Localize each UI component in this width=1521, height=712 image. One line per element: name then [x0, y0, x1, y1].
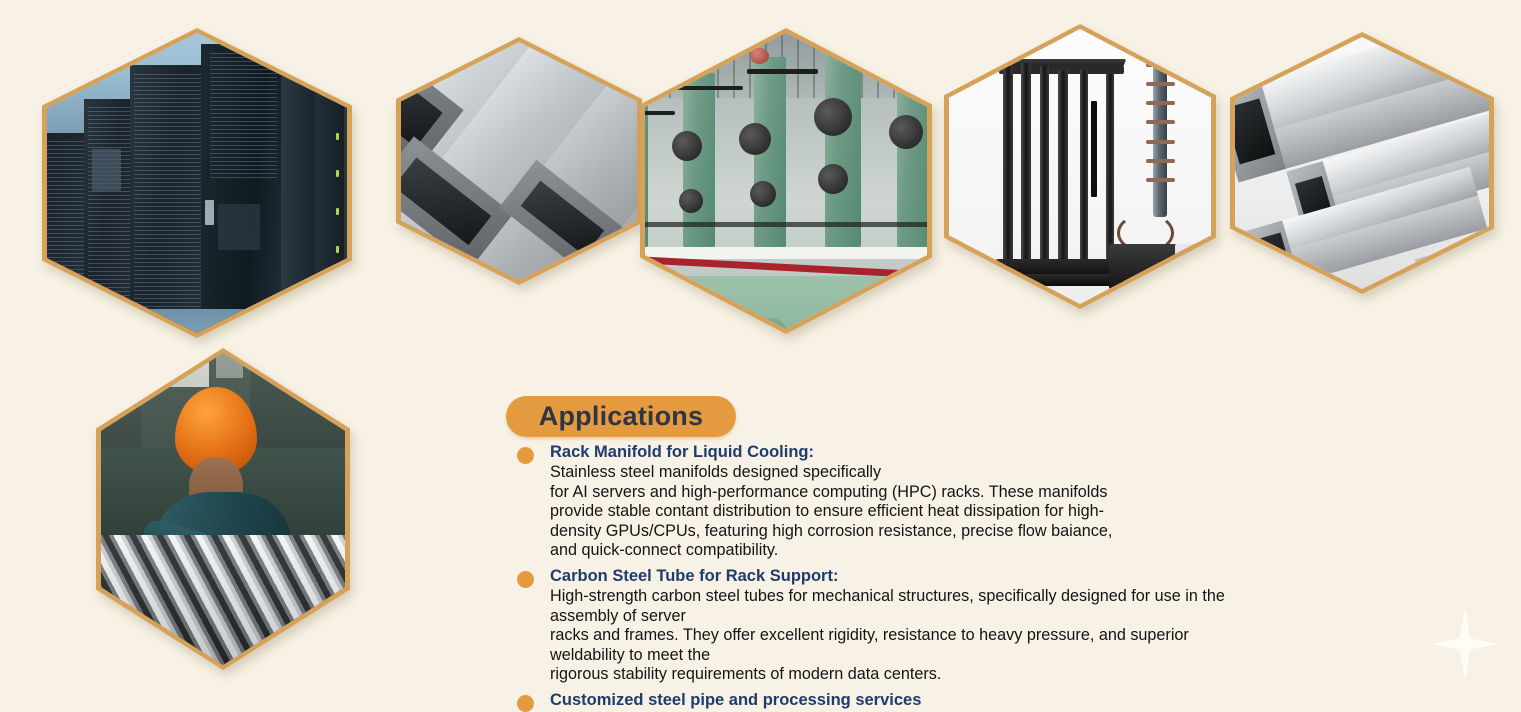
image-stacked-rectangular-steel-tubes [401, 42, 637, 280]
list-item[interactable]: Carbon Steel Tube for Rack Support: High… [513, 567, 1258, 685]
list-item-body: High-strength carbon steel tubes for mec… [550, 587, 1265, 685]
list-item-heading: Customized steel pipe and processing ser… [550, 691, 1258, 710]
list-item-body: Stainless steel manifolds designed speci… [550, 463, 1258, 561]
bullet-dot-icon [517, 571, 534, 588]
image-tube-mill-production-line [645, 33, 927, 329]
hex-image-mask [645, 33, 927, 329]
hex-image-mask [401, 42, 637, 280]
image-data-center-server-racks [47, 33, 347, 333]
hex-image-mask [1235, 37, 1489, 289]
gallery-hex-tube-mill[interactable] [640, 28, 932, 334]
bullet-dot-icon [517, 695, 534, 712]
image-rectangular-steel-tubes-product [1235, 37, 1489, 289]
sparkle-star-icon [1432, 608, 1498, 680]
poster-canvas: Applications Rack Manifold for Liquid Co… [0, 0, 1521, 704]
bullet-dot-icon [517, 447, 534, 464]
applications-badge-label: Applications [539, 401, 703, 432]
applications-list: Rack Manifold for Liquid Cooling: Stainl… [513, 443, 1258, 711]
hex-image-mask [47, 33, 347, 333]
gallery-hex-worker[interactable] [96, 348, 350, 670]
hex-image-mask [949, 29, 1211, 304]
image-worker-inspecting-steel-pipes [101, 353, 345, 665]
list-item-heading: Carbon Steel Tube for Rack Support: [550, 567, 1258, 586]
applications-badge: Applications [506, 396, 736, 437]
list-item-heading: Rack Manifold for Liquid Cooling: [550, 443, 1258, 462]
gallery-hex-data-center[interactable] [42, 28, 352, 338]
hex-image-mask [101, 353, 345, 665]
image-server-rack-frame-with-manifold [949, 29, 1211, 304]
gallery-hex-stacked-tubes[interactable] [396, 37, 642, 285]
gallery-hex-rect-tubes-product[interactable] [1230, 32, 1494, 294]
gallery-hex-rack-frame[interactable] [944, 24, 1216, 309]
list-item[interactable]: Rack Manifold for Liquid Cooling: Stainl… [513, 443, 1258, 561]
list-item[interactable]: Customized steel pipe and processing ser… [513, 691, 1258, 710]
